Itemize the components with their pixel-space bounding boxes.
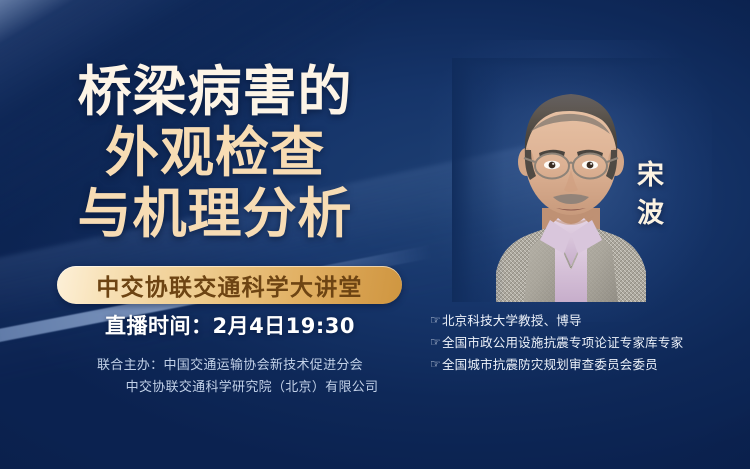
credential-text-2: 全国市政公用设施抗震专项论证专家库专家 [442,332,683,354]
speaker-name: 宋 波 [628,157,674,234]
organizers: 联合主办：中国交通运输协会新技术促进分会 中交协联交通科学研究院（北京）有限公司 [0,355,460,400]
series-badge: 中交协联交通科学大讲堂 [57,266,402,304]
organizer-line-1: 联合主办：中国交通运输协会新技术促进分会 [0,355,460,377]
poster-title: 桥梁病害的 外观检查 与机理分析 [0,64,430,247]
credential-text-3: 全国城市抗震防灾规划审查委员会委员 [442,354,658,376]
series-badge-label: 中交协联交通科学大讲堂 [96,268,362,302]
credential-row: ☞ 全国城市抗震防灾规划审查委员会委员 [430,354,748,376]
pointing-hand-icon: ☞ [430,310,441,331]
speaker-name-char-1: 宋 [628,157,674,195]
speaker-name-char-2: 波 [628,195,674,233]
live-time: 直播时间：2月4日19:30 [0,310,460,340]
title-line-3: 与机理分析 [0,186,430,241]
title-line-1: 桥梁病害的 [0,64,430,119]
credential-row: ☞ 全国市政公用设施抗震专项论证专家库专家 [430,332,748,354]
credential-text-1: 北京科技大学教授、博导 [442,310,582,332]
pointing-hand-icon: ☞ [430,332,441,353]
pointing-hand-icon: ☞ [430,354,441,375]
webinar-poster: 桥梁病害的 外观检查 与机理分析 中交协联交通科学大讲堂 直播时间：2月4日19… [0,0,750,469]
title-line-2: 外观检查 [0,125,430,180]
organizer-line-2: 中交协联交通科学研究院（北京）有限公司 [0,377,460,399]
credential-row: ☞ 北京科技大学教授、博导 [430,310,748,332]
speaker-credentials: ☞ 北京科技大学教授、博导 ☞ 全国市政公用设施抗震专项论证专家库专家 ☞ 全国… [430,310,748,375]
